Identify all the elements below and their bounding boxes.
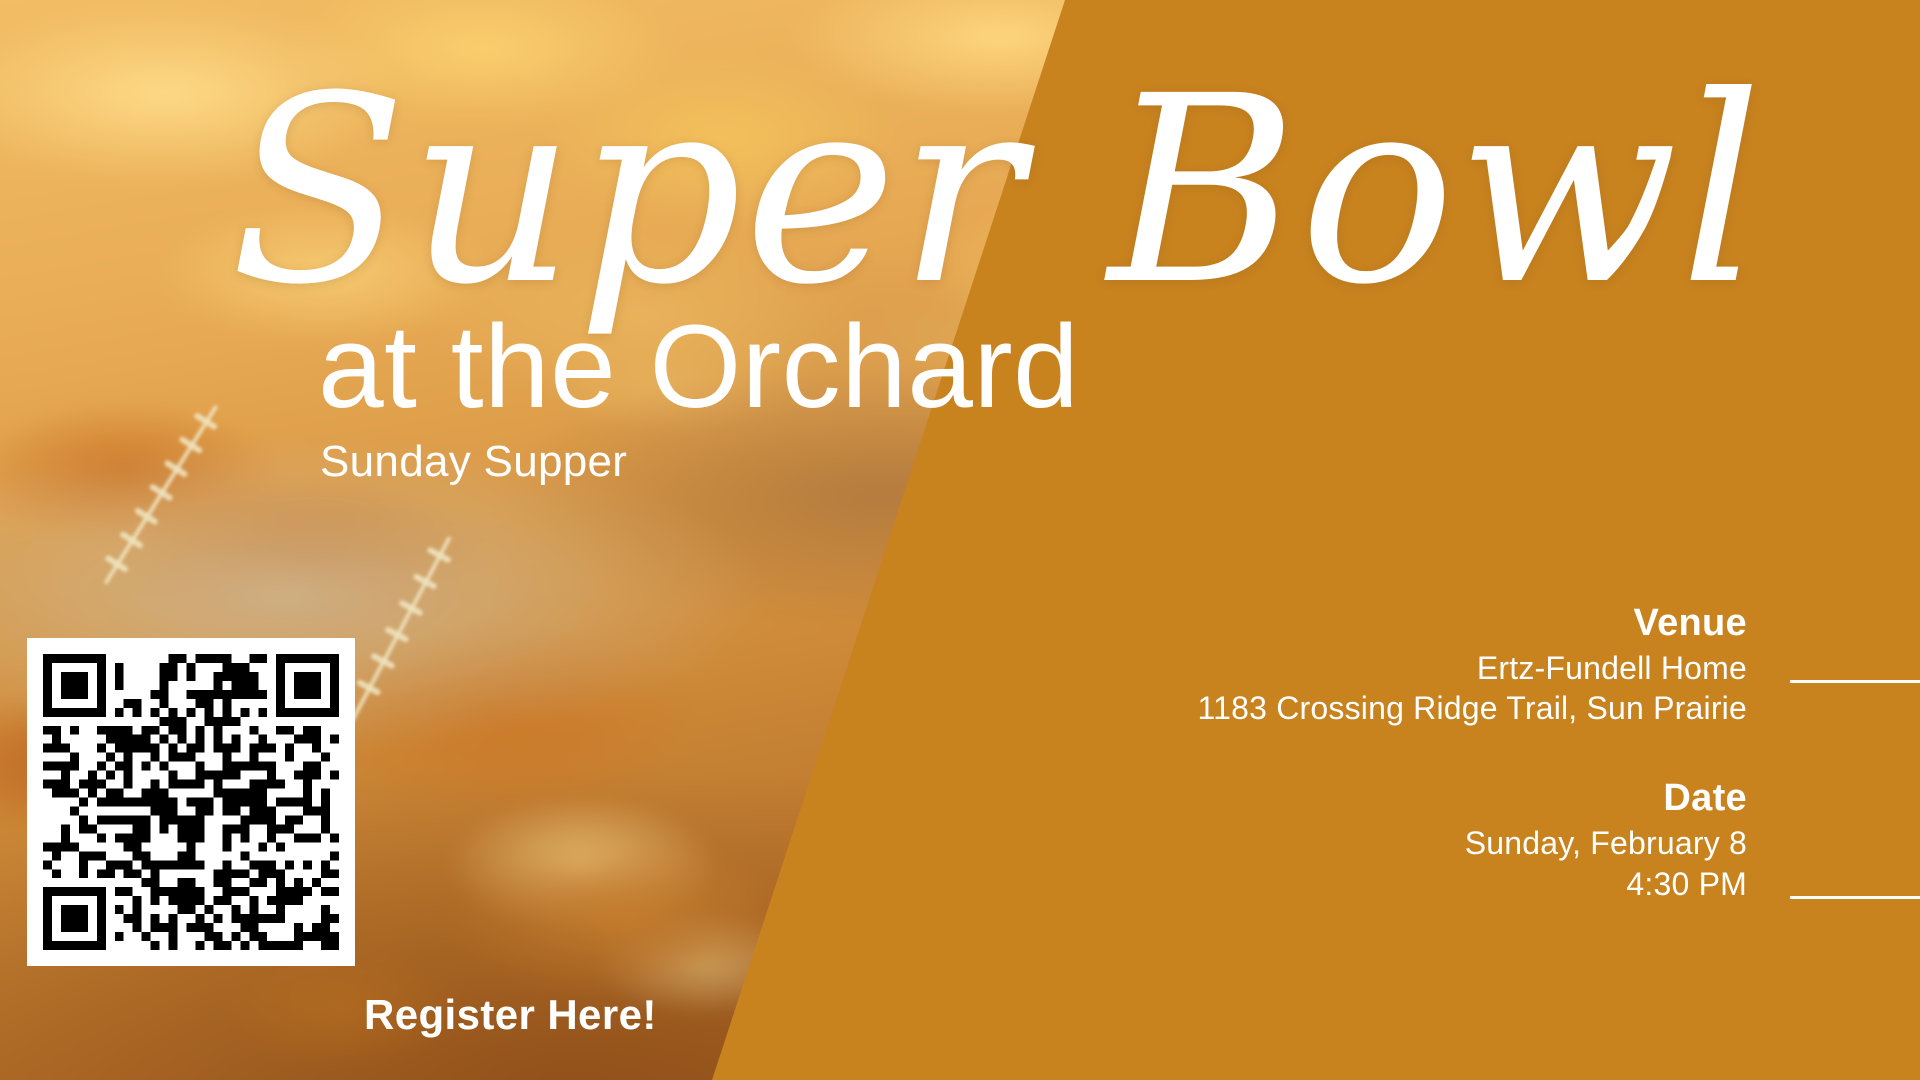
venue-rule bbox=[1790, 680, 1920, 683]
date-line-2: 4:30 PM bbox=[987, 864, 1747, 905]
venue-line-2: 1183 Crossing Ridge Trail, Sun Prairie bbox=[987, 688, 1747, 729]
detail-group-venue: Venue Ertz-Fundell Home 1183 Crossing Ri… bbox=[987, 600, 1747, 729]
venue-heading: Venue bbox=[987, 600, 1747, 648]
headline-script: Super Bowl bbox=[230, 62, 1330, 320]
detail-group-date: Date Sunday, February 8 4:30 PM bbox=[987, 775, 1747, 904]
date-rule bbox=[1790, 896, 1920, 899]
event-flyer: Super Bowl at the Orchard Sunday Supper … bbox=[0, 0, 1920, 1080]
headline-tagline: Sunday Supper bbox=[320, 440, 627, 484]
qr-code[interactable] bbox=[27, 638, 355, 966]
event-details: Venue Ertz-Fundell Home 1183 Crossing Ri… bbox=[987, 600, 1747, 951]
date-line-1: Sunday, February 8 bbox=[987, 823, 1747, 864]
date-heading: Date bbox=[987, 775, 1747, 823]
qr-code-image[interactable] bbox=[43, 654, 339, 950]
headline-subtitle: at the Orchard bbox=[318, 308, 1079, 426]
register-here-label: Register Here! bbox=[364, 994, 657, 1036]
venue-line-1: Ertz-Fundell Home bbox=[987, 648, 1747, 689]
